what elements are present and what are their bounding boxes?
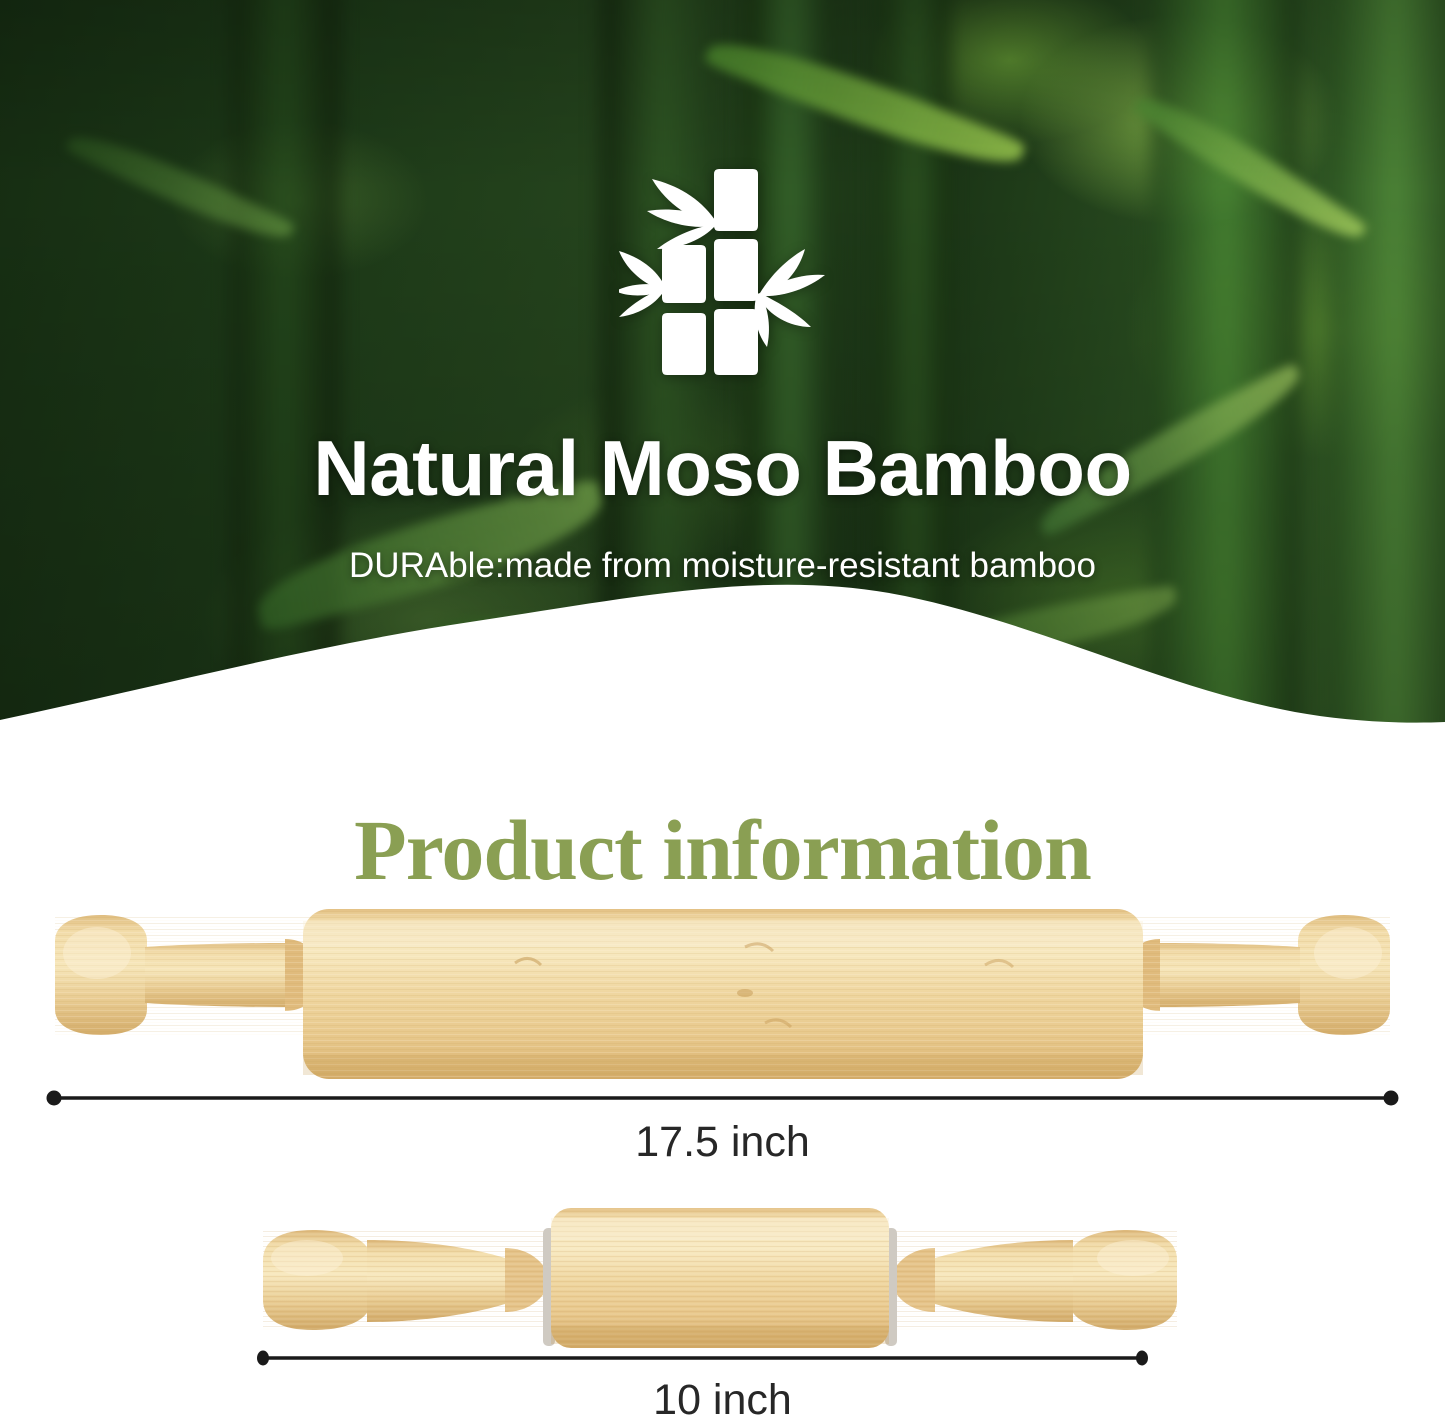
hero-title: Natural Moso Bamboo bbox=[0, 423, 1445, 514]
left-handle bbox=[263, 1230, 548, 1330]
small-rolling-pin-graphic bbox=[255, 1196, 1185, 1356]
small-pin-measure-line bbox=[255, 1350, 1150, 1364]
bamboo-stalks-icon bbox=[619, 163, 827, 385]
measure-endpoint-left bbox=[47, 1091, 62, 1106]
measure-endpoint-left bbox=[257, 1351, 269, 1366]
large-rolling-pin bbox=[45, 905, 1400, 1085]
pin-barrel bbox=[303, 909, 1143, 1085]
measure-endpoint-right bbox=[1136, 1351, 1148, 1366]
right-handle bbox=[1128, 915, 1390, 1035]
wave-divider bbox=[0, 560, 1445, 760]
large-pin-measure-line bbox=[45, 1090, 1400, 1104]
measure-line-svg bbox=[45, 1090, 1400, 1106]
infographic-page: Natural Moso Bamboo DURAble:made from mo… bbox=[0, 0, 1445, 1426]
measure-line-svg bbox=[255, 1350, 1150, 1366]
small-rolling-pin bbox=[255, 1196, 1185, 1356]
left-handle bbox=[55, 915, 317, 1035]
wave-white-top bbox=[0, 585, 1445, 760]
small-pin-dimension-label: 10 inch bbox=[0, 1376, 1445, 1425]
logo-container bbox=[0, 163, 1445, 385]
product-information-heading: Product information bbox=[0, 800, 1445, 900]
large-pin-dimension-label: 17.5 inch bbox=[0, 1118, 1445, 1167]
large-rolling-pin-graphic bbox=[45, 905, 1400, 1085]
measure-endpoint-right bbox=[1384, 1091, 1399, 1106]
pin-barrel bbox=[551, 1208, 889, 1348]
right-handle bbox=[892, 1230, 1177, 1330]
hero-section: Natural Moso Bamboo DURAble:made from mo… bbox=[0, 0, 1445, 760]
